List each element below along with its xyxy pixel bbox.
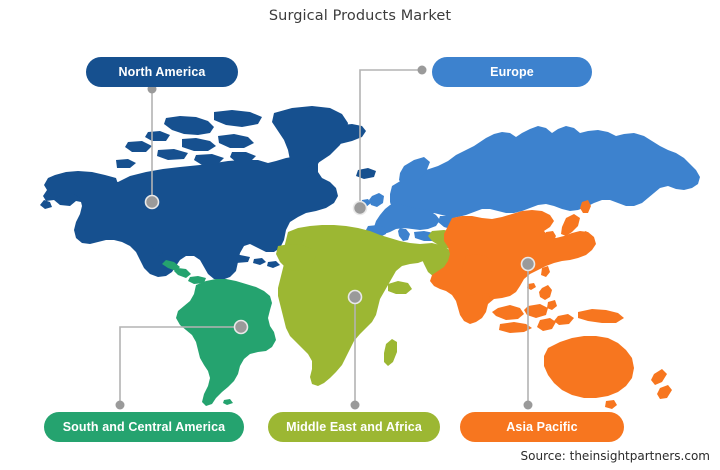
map-region-middle-east-and-africa[interactable] bbox=[276, 225, 466, 386]
region-label-asia-pacific[interactable]: Asia Pacific bbox=[460, 412, 624, 442]
region-label-south-and-central-america[interactable]: South and Central America bbox=[44, 412, 244, 442]
marker-europe-top bbox=[418, 66, 427, 75]
map-region-asia-pacific[interactable] bbox=[430, 200, 672, 409]
region-label-europe[interactable]: Europe bbox=[432, 57, 592, 87]
source-attribution: Source: theinsightpartners.com bbox=[521, 449, 710, 463]
map-region-south-and-central-america[interactable] bbox=[162, 260, 276, 406]
region-label-middle-east-and-africa[interactable]: Middle East and Africa bbox=[268, 412, 440, 442]
marker-south-and-central-america-bottom bbox=[116, 401, 125, 410]
market-map-infographic: Surgical Products Market bbox=[0, 0, 720, 470]
marker-north-america bbox=[146, 196, 159, 209]
marker-asia-pacific bbox=[522, 258, 535, 271]
marker-europe bbox=[354, 202, 367, 215]
marker-south-and-central-america bbox=[235, 321, 248, 334]
marker-middle-east-and-africa bbox=[349, 291, 362, 304]
marker-asia-pacific-bottom bbox=[524, 401, 533, 410]
region-label-north-america[interactable]: North America bbox=[86, 57, 238, 87]
marker-middle-east-and-africa-bottom bbox=[351, 401, 360, 410]
